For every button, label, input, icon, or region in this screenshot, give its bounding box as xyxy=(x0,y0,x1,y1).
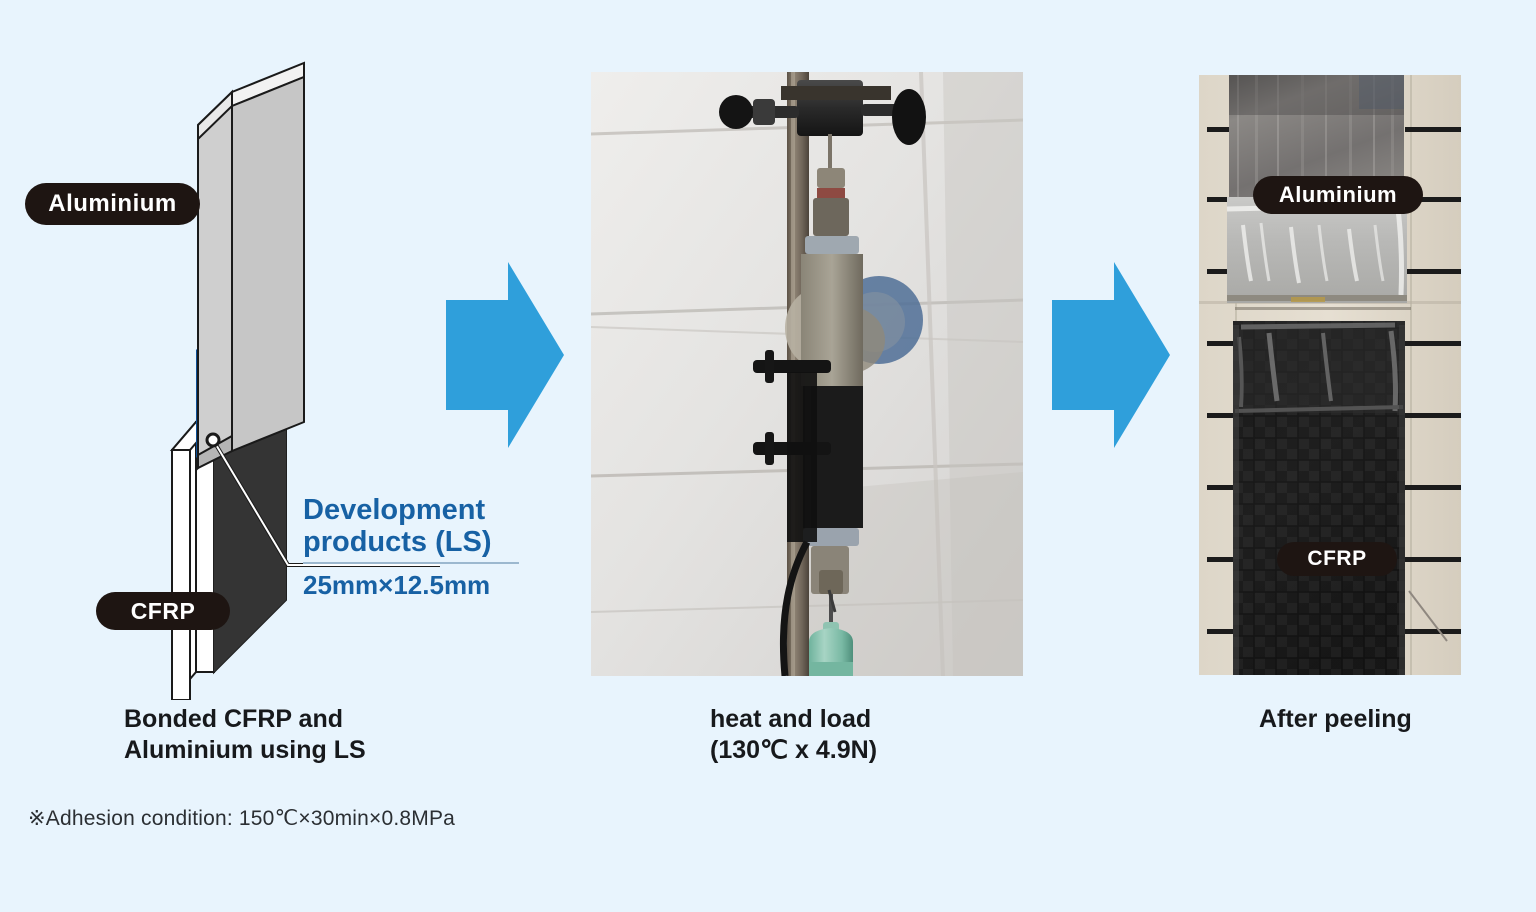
right-knob-head xyxy=(892,89,926,145)
callout-dimensions: 25mm×12.5mm xyxy=(303,570,490,601)
cfrp-adhesive-region xyxy=(1233,321,1405,413)
caption-diagram: Bonded CFRP and Aluminium using LS xyxy=(124,704,366,765)
badge-aluminium-diagram-label: Aluminium xyxy=(48,190,177,218)
badge-cfrp-photo-label: CFRP xyxy=(1307,547,1366,571)
mat-tick-r5 xyxy=(1405,413,1461,418)
callout-title: Development products (LS) xyxy=(303,494,492,559)
aluminium-front-face xyxy=(232,77,304,451)
top-clamp-plate xyxy=(781,86,891,100)
mat-tick-r6 xyxy=(1405,485,1461,490)
pole-clamp-upper-post xyxy=(765,350,774,383)
badge-aluminium-photo: Aluminium xyxy=(1253,176,1423,214)
badge-cfrp-diagram: CFRP xyxy=(96,592,230,630)
upper-grip-red-band xyxy=(817,188,845,198)
mat-tick-r7 xyxy=(1405,557,1461,562)
cfrp-edge-highlight-right xyxy=(1399,325,1405,675)
mat-grid-h-mid xyxy=(1235,307,1411,310)
mat-grid-v2 xyxy=(1410,75,1412,675)
weight-body-lower xyxy=(809,662,853,676)
support-bar xyxy=(787,372,817,542)
left-knob-head xyxy=(719,95,753,129)
peeled-specimen-graphic xyxy=(1199,75,1461,675)
diagram-canvas: Aluminium CFRP Development products (LS)… xyxy=(0,0,1536,912)
caption-peeled: After peeling xyxy=(1259,704,1412,735)
callout-title-line2: products (LS) xyxy=(303,526,492,558)
apparatus-photo-graphic xyxy=(591,72,1023,676)
process-arrow-2 xyxy=(1052,262,1170,448)
upper-grip-body xyxy=(813,198,849,236)
aluminium-coupon-bluetint xyxy=(1359,75,1404,109)
caption-apparatus: heat and load (130℃ x 4.9N) xyxy=(710,704,877,765)
arrow-shape xyxy=(1052,262,1170,448)
adhesion-condition-footnote: ※Adhesion condition: 150℃×30min×0.8MPa xyxy=(28,806,455,831)
callout-divider xyxy=(303,562,519,564)
arrow-shape xyxy=(446,262,564,448)
bonded-specimen-diagram: Aluminium CFRP Development products (LS)… xyxy=(0,0,440,700)
mat-tick-r3 xyxy=(1405,269,1461,274)
callout-title-line1: Development xyxy=(303,494,492,526)
left-knob-collar xyxy=(753,99,775,125)
apparatus-photo xyxy=(591,72,1023,676)
callout-anchor-dot xyxy=(207,434,219,446)
cfrp-edge-highlight-left xyxy=(1233,325,1239,675)
upper-grip-bluegrey-band xyxy=(805,236,859,254)
pole-clamp-lower-post xyxy=(765,432,774,465)
pole-clamp-upper xyxy=(753,360,831,373)
process-arrow-1 xyxy=(446,262,564,448)
mat-tick-r4 xyxy=(1405,341,1461,346)
aluminium-side-face xyxy=(198,92,232,468)
mat-tick-r1 xyxy=(1405,127,1461,132)
badge-cfrp-diagram-label: CFRP xyxy=(131,598,196,625)
badge-aluminium-diagram: Aluminium xyxy=(25,183,200,225)
mat-tick-r8 xyxy=(1405,629,1461,634)
peeled-specimen-photo xyxy=(1199,75,1461,675)
cfrp-white-strip-lower xyxy=(172,450,190,700)
resin-film-bottom-accent xyxy=(1291,297,1325,302)
badge-aluminium-photo-label: Aluminium xyxy=(1279,182,1397,208)
upper-grip-collar xyxy=(817,168,845,188)
lower-grip-collar xyxy=(819,570,843,594)
badge-cfrp-photo: CFRP xyxy=(1277,542,1397,576)
